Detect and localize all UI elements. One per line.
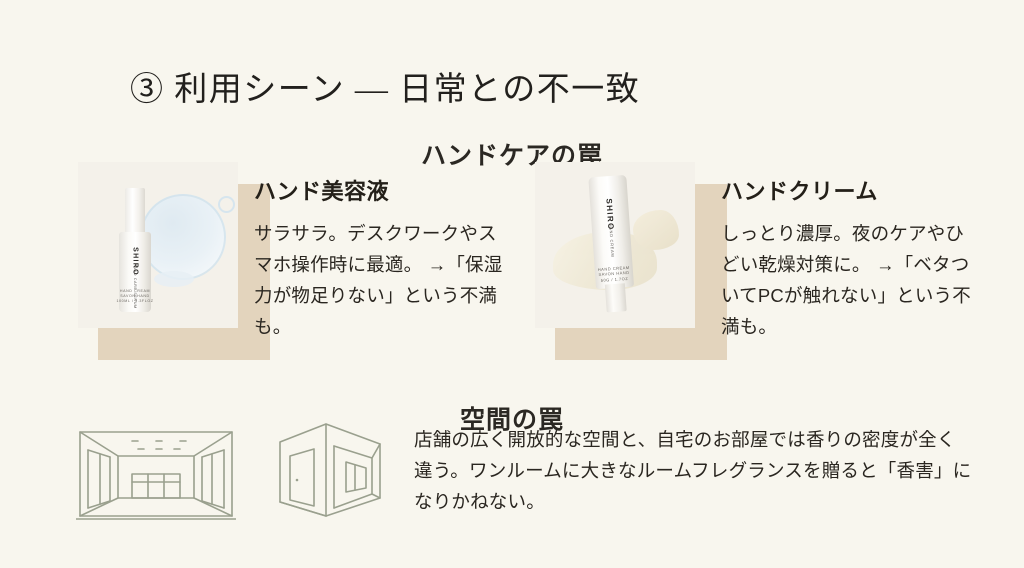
serum-bottle-illustration: SHIRO HAND CARE SERUM HAND CREAM SAVON H… [119, 188, 151, 312]
hand-cream-image: SHIRO HAND CREAM HAND CREAM SAVON HAND 5… [535, 162, 707, 344]
bottle-label-block: HAND CREAM SAVON HAND 100ML / 3.3FLOZ [116, 289, 153, 304]
hand-cream-text: ハンドクリーム しっとり濃厚。夜のケアやひどい乾燥対策に。 →「ベタついてPCが… [721, 174, 976, 342]
bottle-cap [125, 188, 145, 236]
tube-label-line3: 50G / 1.7OZ [598, 275, 630, 283]
tube-cap [605, 283, 627, 312]
product-name: ハンド美容液 [254, 174, 506, 206]
slide-root: ③ 利用シーン ― 日常との不一致 ハンドケアの罠 SHIRO HAND CAR… [0, 0, 1024, 568]
image-panel: SHIRO HAND CARE SERUM HAND CREAM SAVON H… [78, 162, 238, 328]
bottle-label-line3: 100ML / 3.3FLOZ [116, 299, 153, 304]
product-description: サラサラ。デスクワークやスマホ操作時に最適。 →「保湿力が物足りない」という不満… [254, 218, 506, 342]
image-panel: SHIRO HAND CREAM HAND CREAM SAVON HAND 5… [535, 162, 695, 328]
product-name: ハンドクリーム [721, 174, 976, 206]
hand-serum-text: ハンド美容液 サラサラ。デスクワークやスマホ操作時に最適。 →「保湿力が物足りな… [254, 174, 506, 342]
cream-tube-illustration: SHIRO HAND CREAM HAND CREAM SAVON HAND 5… [588, 175, 635, 313]
water-splash-icon [140, 194, 226, 280]
tube-body: SHIRO HAND CREAM HAND CREAM SAVON HAND 5… [588, 175, 634, 289]
room-isometric-icon [276, 418, 384, 522]
bottle-body: SHIRO HAND CARE SERUM HAND CREAM SAVON H… [119, 232, 151, 312]
store-interior-icon [76, 416, 236, 526]
product-description: しっとり濃厚。夜のケアやひどい乾燥対策に。 →「ベタついてPCが触れない」という… [721, 218, 976, 342]
hand-serum-image: SHIRO HAND CARE SERUM HAND CREAM SAVON H… [78, 162, 250, 344]
space-trap-body: 店舗の広く開放的な空間と、自宅のお部屋では香りの密度が全く違う。ワンルームに大き… [414, 424, 974, 517]
tube-label-block: HAND CREAM SAVON HAND 50G / 1.7OZ [598, 264, 631, 283]
space-trap-icons [70, 408, 400, 533]
page-title: ③ 利用シーン ― 日常との不一致 [130, 62, 640, 110]
